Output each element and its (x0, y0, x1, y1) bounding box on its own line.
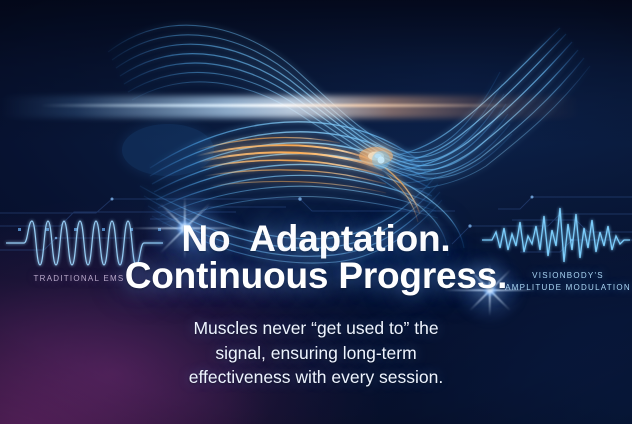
headline-line-1: No Adaptation. (0, 219, 632, 259)
caption-visionbody-amplitude-modulation: VISIONBODY'S AMPLITUDE MODULATION (498, 270, 632, 294)
hero-banner: No Adaptation. Continuous Progress. Musc… (0, 0, 632, 424)
caption-traditional-ems: TRADITIONAL EMS (9, 273, 149, 285)
subheadline: Muscles never “get used to” the signal, … (0, 316, 632, 390)
